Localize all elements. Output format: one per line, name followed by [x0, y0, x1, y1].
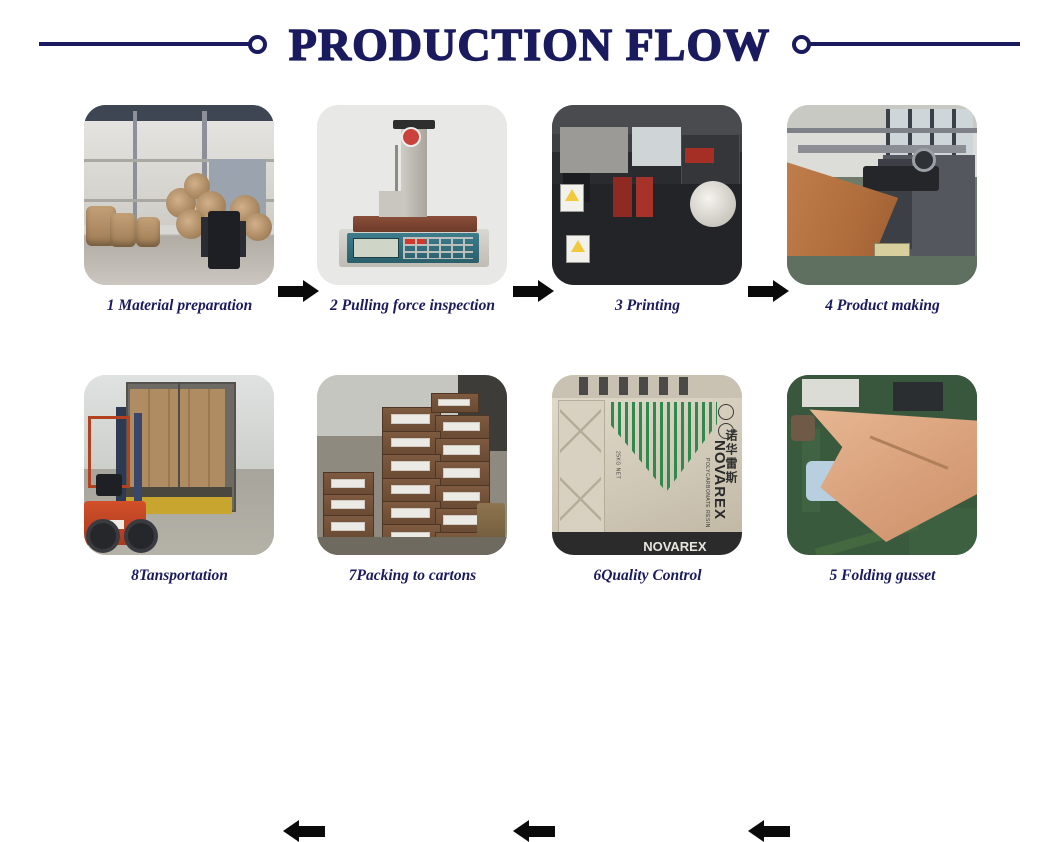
flow-step-5: 5 Folding gusset: [765, 370, 1000, 605]
step-4-photo: [787, 105, 977, 285]
step-7-photo: [317, 375, 507, 555]
step-4-caption: 4 Product making: [765, 297, 1000, 315]
step-6-caption: 6Quality Control: [530, 567, 765, 585]
step-3-caption: 3 Printing: [530, 297, 765, 315]
step-1-photo: [84, 105, 274, 285]
flow-step-6: NOVAREX 诺华雷斯 POLYCARBONATE RESIN 25KG NE…: [530, 370, 765, 605]
flow-step-2: 2 Pulling force inspection: [295, 100, 530, 335]
novarex-paper-bag-icon: NOVAREX 诺华雷斯 POLYCARBONATE RESIN 25KG NE…: [552, 375, 742, 555]
flow-step-7: 7Packing to cartons: [295, 370, 530, 605]
page-title: PRODUCTION FLOW: [289, 18, 770, 71]
step-5-caption: 5 Folding gusset: [765, 567, 1000, 585]
page-header: PRODUCTION FLOW: [0, 0, 1059, 88]
decoration-ring-right: [792, 35, 811, 54]
warehouse-paper-rolls-icon: [84, 105, 274, 285]
step-5-photo: [787, 375, 977, 555]
step-6-photo: NOVAREX 诺华雷斯 POLYCARBONATE RESIN 25KG NE…: [552, 375, 742, 555]
flow-step-3: 3 Printing: [530, 100, 765, 335]
bag-side-text: 25KG NET: [615, 451, 621, 479]
flow-step-8: 8Tansportation: [62, 370, 297, 605]
flow-step-1: 1 Material preparation: [62, 100, 297, 335]
header-decoration-right: [792, 35, 1020, 54]
step-3-photo: [552, 105, 742, 285]
flow-row-top: 1 Material preparation 2 Pulling force i…: [0, 100, 1059, 340]
tensile-testing-machine-icon: [317, 105, 507, 285]
header-decoration-left: [39, 35, 267, 54]
forklift-loading-truck-icon: [84, 375, 274, 555]
bag-making-machine-icon: [787, 105, 977, 285]
bag-subtitle-text: POLYCARBONATE RESIN: [704, 458, 710, 528]
step-2-caption: 2 Pulling force inspection: [295, 297, 530, 315]
bag-bottom-brand-text: NOVAREX: [643, 539, 706, 554]
step-1-caption: 1 Material preparation: [62, 297, 297, 315]
flow-step-4: 4 Product making: [765, 100, 1000, 335]
step-2-photo: [317, 105, 507, 285]
stacked-cartons-icon: [317, 375, 507, 555]
printing-press-icon: [552, 105, 742, 285]
production-flow-diagram: 1 Material preparation 2 Pulling force i…: [0, 88, 1059, 652]
gusset-folding-machine-icon: [787, 375, 977, 555]
decoration-ring-left: [248, 35, 267, 54]
decoration-line-left: [39, 42, 249, 46]
flow-row-bottom: 8Tansportation: [0, 370, 1059, 610]
decoration-line-right: [810, 42, 1020, 46]
step-8-photo: [84, 375, 274, 555]
step-8-caption: 8Tansportation: [62, 567, 297, 585]
bag-brand-cn-text: 诺华雷斯: [723, 429, 740, 485]
step-7-caption: 7Packing to cartons: [295, 567, 530, 585]
